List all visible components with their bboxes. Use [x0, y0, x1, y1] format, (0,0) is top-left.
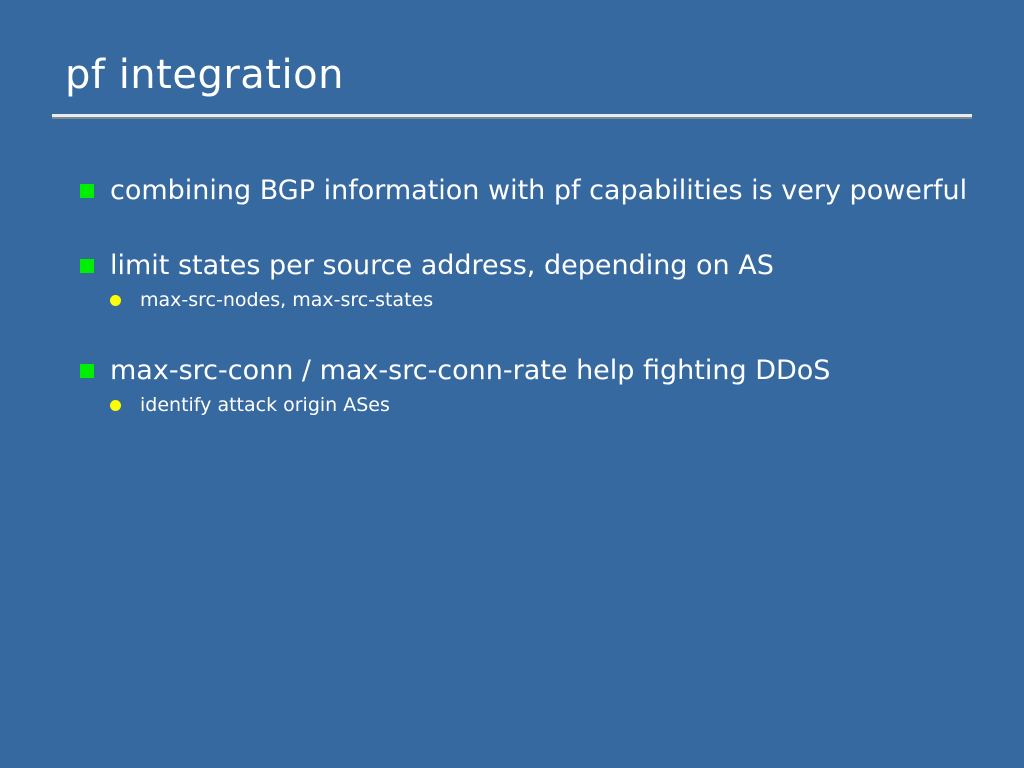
bullet-item-level2: identify attack origin ASes: [80, 391, 980, 419]
bullet-group: combining BGP information with pf capabi…: [80, 172, 980, 209]
dot-bullet-icon: [110, 295, 121, 306]
square-bullet-icon: [80, 184, 94, 198]
bullet-text-level1: limit states per source address, dependi…: [110, 250, 774, 281]
bullet-text-level1: combining BGP information with pf capabi…: [110, 175, 967, 206]
bullet-item-level1: max-src-conn / max-src-conn-rate help fi…: [80, 352, 980, 389]
square-bullet-icon: [80, 259, 94, 273]
bullet-group: max-src-conn / max-src-conn-rate help fi…: [80, 352, 980, 419]
square-bullet-icon: [80, 364, 94, 378]
dot-bullet-icon: [110, 400, 121, 411]
slide-body: combining BGP information with pf capabi…: [80, 172, 980, 419]
bullet-item-level1: limit states per source address, dependi…: [80, 247, 980, 284]
slide-title-block: pf integration: [52, 46, 972, 104]
bullet-text-level1: max-src-conn / max-src-conn-rate help fi…: [110, 355, 830, 386]
bullet-item-level1: combining BGP information with pf capabi…: [80, 172, 980, 209]
sub-bullet-list: max-src-nodes, max-src-states: [80, 286, 980, 314]
title-divider: [52, 114, 972, 117]
bullet-item-level2: max-src-nodes, max-src-states: [80, 286, 980, 314]
sub-bullet-list: identify attack origin ASes: [80, 391, 980, 419]
bullet-group: limit states per source address, dependi…: [80, 247, 980, 314]
presentation-slide: pf integration combining BGP information…: [0, 0, 1024, 768]
bullet-text-level2: max-src-nodes, max-src-states: [140, 289, 433, 311]
page-title: pf integration: [52, 46, 972, 104]
bullet-text-level2: identify attack origin ASes: [140, 394, 390, 416]
